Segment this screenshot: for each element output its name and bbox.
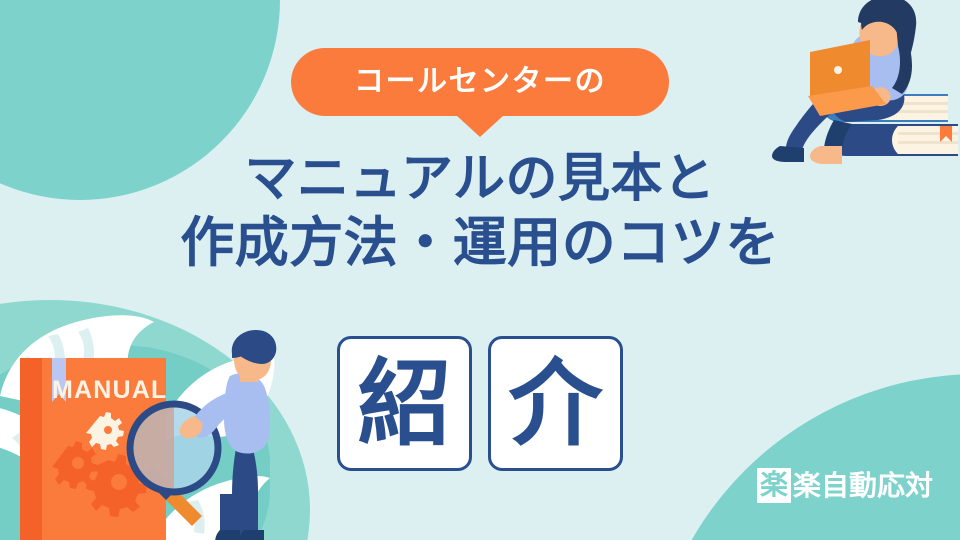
- headline-line-2: 作成方法・運用のコツを: [0, 211, 960, 277]
- illustration-woman-on-books: [762, 0, 960, 171]
- emphasis-box-2: 介: [488, 336, 623, 471]
- ribbon-badge-tail: [456, 115, 504, 137]
- emphasis-box-1-char: 紹: [357, 357, 451, 451]
- brand-logo: 楽 楽自動応対: [757, 468, 933, 503]
- page-title: マニュアルの見本と 作成方法・運用のコツを: [0, 148, 960, 277]
- headline-line-1: マニュアルの見本と: [0, 148, 960, 211]
- emphasis-box-2-char: 介: [508, 357, 602, 451]
- emphasis-box-group: 紹 介: [0, 336, 960, 471]
- ribbon-badge-label: コールセンターの: [354, 67, 606, 97]
- brand-logo-text: 楽自動応対: [793, 472, 933, 500]
- ribbon-badge: コールセンターの: [291, 48, 669, 138]
- brand-logo-mark: 楽: [757, 468, 791, 503]
- emphasis-box-1: 紹: [337, 336, 472, 471]
- ribbon-badge-body: コールセンターの: [291, 48, 669, 116]
- banner-canvas: MANUAL: [0, 0, 960, 540]
